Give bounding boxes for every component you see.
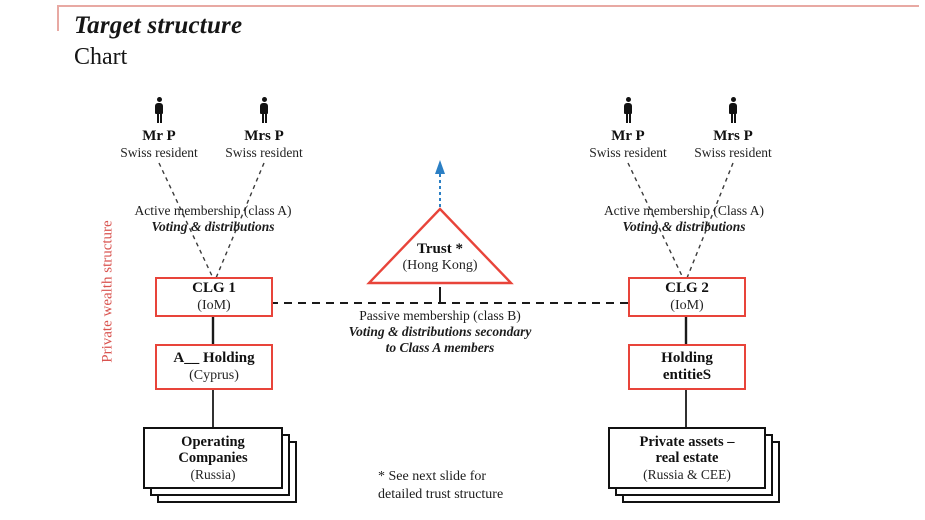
stack-front-panel: Operating Companies (Russia)	[143, 427, 283, 489]
person-leg-right	[265, 113, 267, 123]
person-head	[731, 97, 736, 102]
box-jurisdiction: (IoM)	[197, 298, 230, 314]
stack-title-line-2: Companies	[178, 450, 247, 467]
box-title: A__ Holding	[173, 350, 254, 367]
person-residence: Swiss resident	[108, 145, 210, 160]
membership-line-1: Active membership (class A)	[118, 203, 308, 219]
box-title: CLG 1	[192, 280, 236, 297]
stack-title-line-2: real estate	[656, 450, 719, 467]
trust-upward-arrow-head	[435, 160, 445, 174]
box-clg-2[interactable]: CLG 2 (IoM)	[628, 277, 746, 317]
person-name: Mrs P	[682, 128, 784, 145]
person-leg-left	[157, 113, 159, 123]
passive-membership-label: Passive membership (class B) Voting & di…	[330, 308, 550, 357]
person-head	[262, 97, 267, 102]
side-label-private-wealth-structure: Private wealth structure	[100, 182, 117, 402]
stack-front-panel: Private assets – real estate (Russia & C…	[608, 427, 766, 489]
membership-line-1: Active membership (Class A)	[586, 203, 782, 219]
membership-line-2: Voting & distributions	[586, 219, 782, 235]
box-title-line-2: entitieS	[663, 367, 711, 384]
person-name: Mr P	[108, 128, 210, 145]
person-residence: Swiss resident	[682, 145, 784, 160]
person-leg-left	[731, 113, 733, 123]
box-jurisdiction: (Cyprus)	[189, 368, 239, 384]
person-icon	[622, 97, 634, 123]
box-jurisdiction: (IoM)	[670, 298, 703, 314]
person-residence: Swiss resident	[577, 145, 679, 160]
box-holding-entities[interactable]: Holding entitieS	[628, 344, 746, 390]
person-name: Mrs P	[213, 128, 315, 145]
trust-jurisdiction: (Hong Kong)	[366, 258, 514, 274]
right-active-membership-label: Active membership (Class A) Voting & dis…	[586, 203, 782, 235]
person-caption-left-mrs-p: Mrs P Swiss resident	[213, 128, 315, 160]
person-leg-right	[629, 113, 631, 123]
person-icon	[727, 97, 739, 123]
box-a-holding[interactable]: A__ Holding (Cyprus)	[155, 344, 273, 390]
footnote-line-1: * See next slide for	[378, 468, 568, 486]
box-clg-1[interactable]: CLG 1 (IoM)	[155, 277, 273, 317]
person-icon	[153, 97, 165, 123]
membership-line-2: Voting & distributions	[118, 219, 308, 235]
person-head	[626, 97, 631, 102]
person-head	[157, 97, 162, 102]
person-caption-left-mr-p: Mr P Swiss resident	[108, 128, 210, 160]
passive-line-2: Voting & distributions secondary	[330, 324, 550, 340]
page-subtitle: Chart	[74, 44, 127, 71]
person-name: Mr P	[577, 128, 679, 145]
trust-name: Trust *	[366, 241, 514, 258]
stack-title-line-1: Operating	[181, 434, 245, 451]
stack-jurisdiction: (Russia & CEE)	[643, 467, 731, 482]
stack-title-line-1: Private assets –	[639, 434, 734, 451]
stack-jurisdiction: (Russia)	[191, 467, 236, 482]
person-icon	[258, 97, 270, 123]
passive-line-3: to Class A members	[330, 340, 550, 356]
person-leg-right	[734, 113, 736, 123]
frame-left-rule	[57, 5, 59, 31]
passive-line-1: Passive membership (class B)	[330, 308, 550, 324]
box-title: Holding	[661, 350, 713, 367]
slide-canvas: Target structure Chart Private wealth st…	[0, 0, 925, 520]
footnote-line-2: detailed trust structure	[378, 486, 568, 504]
frame-top-rule	[57, 5, 919, 7]
left-active-membership-label: Active membership (class A) Voting & dis…	[118, 203, 308, 235]
person-leg-right	[160, 113, 162, 123]
person-caption-right-mr-p: Mr P Swiss resident	[577, 128, 679, 160]
person-leg-left	[626, 113, 628, 123]
trust-triangle[interactable]: Trust * (Hong Kong)	[366, 205, 514, 285]
stack-private-assets[interactable]: Private assets – real estate (Russia & C…	[608, 427, 788, 509]
page-title: Target structure	[74, 12, 242, 40]
person-leg-left	[262, 113, 264, 123]
stack-operating-companies[interactable]: Operating Companies (Russia)	[143, 427, 303, 509]
person-residence: Swiss resident	[213, 145, 315, 160]
footnote: * See next slide for detailed trust stru…	[378, 468, 568, 503]
box-title: CLG 2	[665, 280, 709, 297]
person-caption-right-mrs-p: Mrs P Swiss resident	[682, 128, 784, 160]
trust-label: Trust * (Hong Kong)	[366, 241, 514, 274]
